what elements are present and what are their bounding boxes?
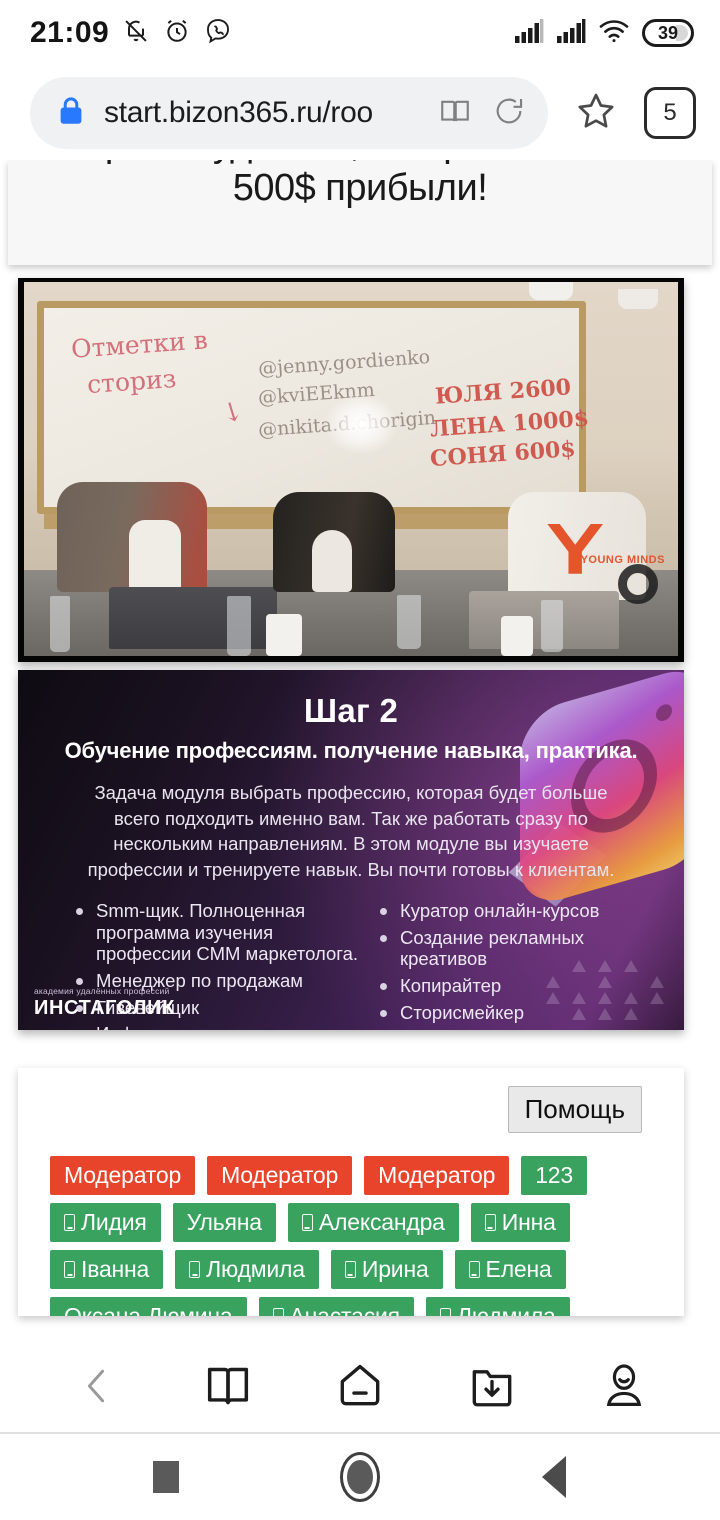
triangle-left-icon (542, 1456, 566, 1498)
battery-indicator: 39 (642, 19, 694, 47)
participant-name: Модератор (64, 1162, 181, 1189)
viber-icon (204, 17, 232, 50)
person-1-laptop (109, 587, 277, 649)
signal-sim2-icon (556, 18, 586, 49)
slide-right-column: Куратор онлайн-курсовСоздание рекламных … (374, 900, 662, 1030)
person-1-shirt (129, 520, 181, 592)
tab-counter[interactable]: 5 (644, 87, 696, 139)
notifications-muted-icon (122, 17, 150, 50)
profile-button[interactable] (581, 1354, 667, 1418)
status-bar-right: 39 (514, 18, 694, 49)
slide-logo: академия удалённых профессий ИНСТАГОЛИК (34, 986, 175, 1020)
participant-tag-list: МодераторМодераторМодератор123ЛидияУльян… (50, 1156, 674, 1316)
browser-address-bar: start.bizon365.ru/roo 5 (0, 66, 720, 160)
mobile-phone-icon (189, 1261, 200, 1278)
battery-percent: 39 (658, 23, 678, 44)
slide-subtitle: Обучение профессиям. получение навыка, п… (18, 738, 684, 764)
participant-name: Ульяна (187, 1209, 262, 1236)
slide-bullet-right-1: Создание рекламных креативов (374, 927, 662, 970)
downloads-button[interactable] (449, 1354, 535, 1418)
lamp-glow (325, 394, 397, 454)
participant-name: Людмила (457, 1303, 556, 1316)
gear-icon (618, 564, 658, 604)
mobile-phone-icon (485, 1214, 496, 1231)
participant-tag[interactable]: Оксана Дюмина (50, 1297, 247, 1316)
web-page-content: истории студентов, которые вышли на 500$… (0, 160, 720, 1340)
circle-icon (340, 1452, 380, 1502)
home-button[interactable] (317, 1354, 403, 1418)
participant-name: Модератор (221, 1162, 338, 1189)
participant-tag[interactable]: Ульяна (173, 1203, 276, 1242)
participant-name: Модератор (378, 1162, 495, 1189)
participant-name: Ирина (362, 1256, 429, 1283)
slide-bullet-right-2: Копирайтер (374, 975, 662, 997)
participant-tag[interactable]: Людмила (175, 1250, 319, 1289)
video-watermark-text: YOUNG MINDS (581, 554, 665, 566)
whiteboard-note-1: ЮЛЯ 2600 (434, 375, 572, 410)
square-icon (153, 1461, 179, 1493)
participant-name: Оксана Дюмина (64, 1303, 233, 1316)
recents-button[interactable] (129, 1446, 203, 1508)
moderator-tag[interactable]: Модератор (364, 1156, 509, 1195)
participant-tag[interactable]: Ирина (331, 1250, 443, 1289)
wifi-icon (598, 18, 630, 49)
table-object-2 (501, 616, 533, 656)
ceiling-lamp-2 (618, 289, 658, 309)
participant-name: Александра (319, 1209, 445, 1236)
help-button[interactable]: Помощь (508, 1086, 642, 1133)
webinar-chat-panel: Помощь МодераторМодераторМодератор123Лид… (18, 1068, 684, 1316)
participant-name: Лидия (81, 1209, 147, 1236)
participant-tag[interactable]: Инна (471, 1203, 570, 1242)
water-glass-3 (397, 595, 421, 649)
status-clock: 21:09 (30, 16, 109, 50)
webinar-video-player[interactable]: Отметки в сториз ↘ @jenny.gordienko @kvi… (18, 278, 684, 662)
whiteboard-handle-1: @jenny.gordienko (258, 346, 431, 380)
lock-icon (58, 96, 84, 131)
participant-tag[interactable]: Александра (288, 1203, 459, 1242)
mobile-phone-icon (64, 1214, 75, 1231)
participant-tag-row: Оксана ДюминаАнастасияЛюдмила (50, 1297, 674, 1316)
water-glass-2 (227, 596, 251, 656)
water-glass-4 (541, 600, 563, 652)
participant-tag-row: ЛидияУльянаАлександраИнна (50, 1203, 674, 1242)
mobile-phone-icon (302, 1214, 313, 1231)
slide-body-text: Задача модуля выбрать профессию, которая… (18, 780, 684, 882)
signal-sim1-icon (514, 18, 544, 49)
mobile-phone-icon (64, 1261, 75, 1278)
participant-tag[interactable]: 123 (521, 1156, 587, 1195)
mobile-phone-icon (440, 1308, 451, 1316)
participant-tag[interactable]: Анастасия (259, 1297, 414, 1316)
back-button[interactable] (517, 1446, 591, 1508)
slide-title: Шаг 2 (18, 692, 684, 730)
status-bar-left: 21:09 (30, 16, 232, 50)
participant-tag-row: ІваннаЛюдмилаИринаЕлена (50, 1250, 674, 1289)
slide-bullet-left-0: Smm-щик. Полноценная программа изучения … (70, 900, 358, 965)
page-title: истории студентов, которые вышли на 500$… (8, 160, 712, 210)
bookmarks-button[interactable] (185, 1354, 271, 1418)
slide-logo-name: ИНСТАГОЛИК (34, 997, 175, 1020)
status-bar: 21:09 (0, 0, 720, 66)
participant-name: Людмила (206, 1256, 305, 1283)
mobile-phone-icon (469, 1261, 480, 1278)
headline-line-1: истории студентов, которые вышли на (29, 160, 692, 165)
person-2-top (312, 530, 352, 592)
browser-bottom-toolbar (0, 1340, 720, 1432)
table-object-1 (266, 614, 302, 656)
whiteboard-arrow-icon: ↘ (215, 394, 248, 431)
presentation-slide: Шаг 2 Обучение профессиям. получение нав… (18, 670, 684, 1030)
slide-bullet-left-3: Инфлюенс-маркетолог (70, 1023, 358, 1030)
participant-tag[interactable]: Людмила (426, 1297, 570, 1316)
moderator-tag[interactable]: Модератор (207, 1156, 352, 1195)
whiteboard-note-3: СОНЯ 600$ (429, 436, 576, 472)
participant-tag[interactable]: Лидия (50, 1203, 161, 1242)
mobile-phone-icon (345, 1261, 356, 1278)
participant-name: Инна (502, 1209, 556, 1236)
page-headline-card: истории студентов, которые вышли на 500$… (8, 160, 712, 265)
slide-bullet-right-0: Куратор онлайн-курсов (374, 900, 662, 922)
participant-name: 123 (535, 1162, 573, 1189)
slide-bullet-right-3: Сторисмейкер (374, 1002, 662, 1024)
participant-tag[interactable]: Іванна (50, 1250, 163, 1289)
water-glass-1 (50, 596, 70, 652)
slide-bullet-right-4: Ассистент блогера (374, 1028, 662, 1030)
ceiling-lamp-1 (529, 282, 573, 300)
headline-line-2: 500$ прибыли! (8, 166, 712, 210)
reader-book-icon[interactable] (438, 94, 472, 133)
android-navigation-bar (0, 1434, 720, 1520)
whiteboard-text-1: Отметки в (70, 325, 208, 363)
mobile-phone-icon (273, 1308, 284, 1316)
url-text[interactable]: start.bizon365.ru/roo (104, 96, 418, 130)
star-icon[interactable] (574, 89, 618, 138)
reload-icon[interactable] (492, 94, 526, 133)
participant-name: Іванна (81, 1256, 149, 1283)
slide-logo-subtitle: академия удалённых профессий (34, 986, 175, 996)
alarm-clock-icon (163, 17, 191, 50)
home-button[interactable] (323, 1446, 397, 1508)
whiteboard-text-2: сториз (86, 364, 177, 399)
participant-tag[interactable]: Елена (455, 1250, 566, 1289)
moderator-tag[interactable]: Модератор (50, 1156, 195, 1195)
participant-name: Анастасия (290, 1303, 400, 1316)
back-button[interactable] (53, 1354, 139, 1418)
omnibox[interactable]: start.bizon365.ru/roo (30, 77, 548, 149)
participant-tag-row: МодераторМодераторМодератор123 (50, 1156, 674, 1195)
participant-name: Елена (486, 1256, 552, 1283)
video-frame: Отметки в сториз ↘ @jenny.gordienko @kvi… (24, 282, 678, 656)
